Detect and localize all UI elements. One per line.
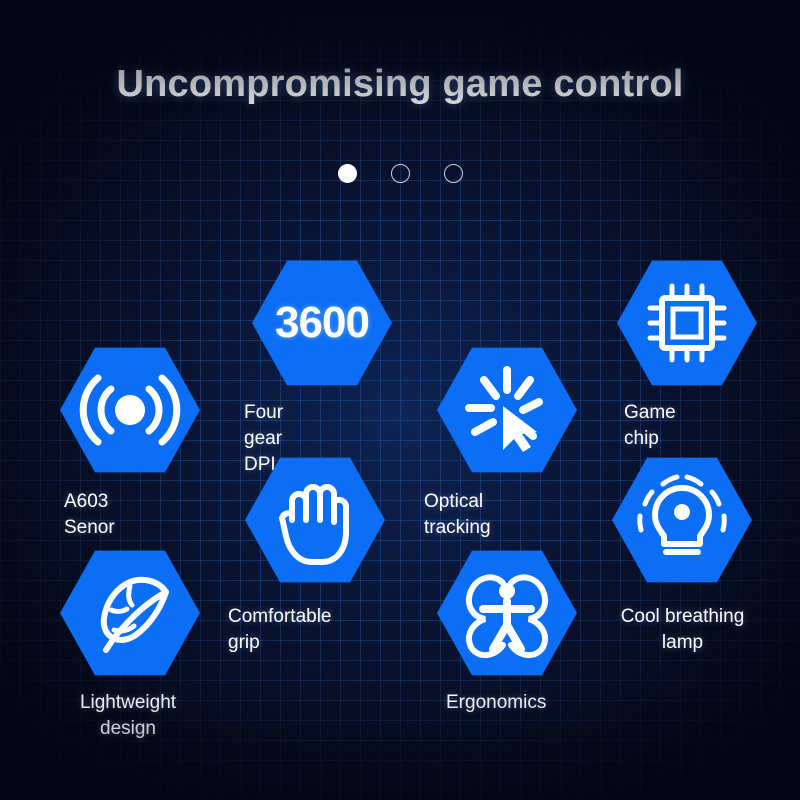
carousel-dots (0, 164, 800, 183)
carousel-dot-3[interactable] (444, 164, 463, 183)
feature-label: Lightweight design (48, 690, 208, 742)
carousel-dot-2[interactable] (391, 164, 410, 183)
carousel-dot-1[interactable] (338, 164, 357, 183)
feature-label: Comfortable grip (228, 604, 332, 656)
page-title: Uncompromising game control (0, 63, 800, 106)
feature-label: Game chip (624, 400, 676, 452)
feature-label: Cool breathing lamp (600, 604, 765, 656)
feature-label: Optical tracking (424, 489, 491, 541)
feature-label: A603 Senor (64, 489, 115, 541)
feature-label: Ergonomics (446, 690, 546, 716)
product-feature-slide: Uncompromising game control A603 Senor 3… (0, 0, 800, 800)
dpi-value: 3600 (275, 298, 369, 348)
